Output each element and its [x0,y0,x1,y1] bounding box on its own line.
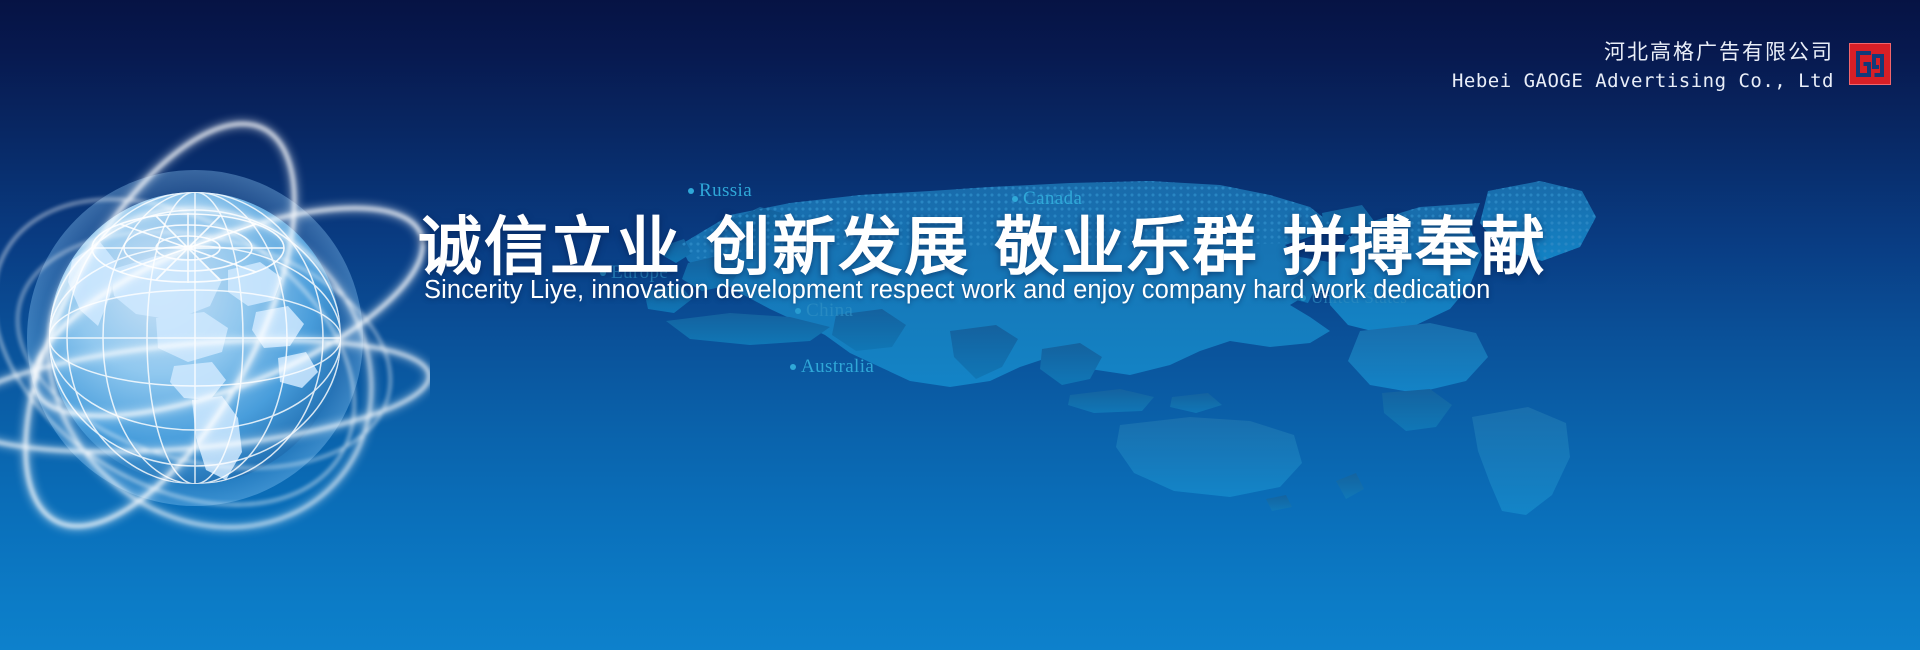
map-marker-dot-icon [688,188,694,194]
map-marker-dot-icon [790,364,796,370]
orbiting-globe-icon [0,100,430,570]
slogan-chinese: 诚信立业 创新发展 敬业乐群 拼搏奉献 [418,196,1547,288]
company-name-cn: 河北高格广告有限公司 [1604,36,1834,66]
company-name-en: Hebei GAOGE Advertising Co., Ltd [1452,70,1834,92]
map-label-australia: Australia [790,356,874,378]
world-map-icon [430,95,1760,515]
map-marker-dot-icon [795,308,801,314]
company-banner: Russia Europe China Canada United States… [0,0,1920,650]
gaoge-square-logo-icon [1848,40,1892,88]
slogan-english: Sincerity Liye, innovation development r… [424,276,1490,305]
company-name-group: 河北高格广告有限公司 Hebei GAOGE Advertising Co., … [1452,36,1834,92]
company-identity-block: 河北高格广告有限公司 Hebei GAOGE Advertising Co., … [1452,36,1892,92]
